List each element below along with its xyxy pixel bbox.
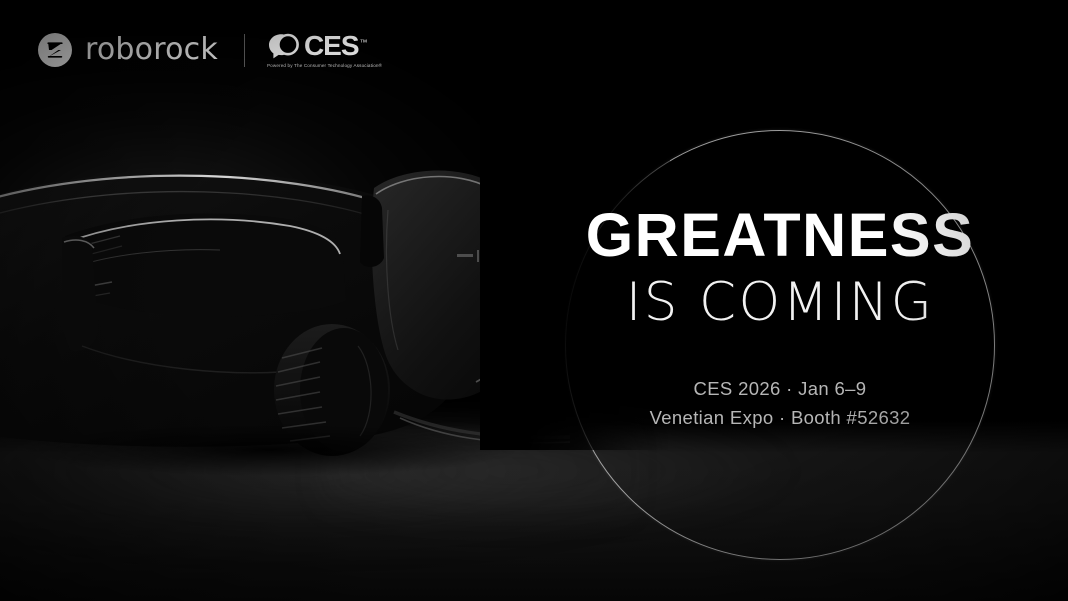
robot-vacuum-silhouette [0,150,570,480]
event-details: CES 2026 · Jan 6–9 Venetian Expo · Booth… [565,375,995,432]
ces-tagline: Powered by The Consumer Technology Assoc… [267,63,382,68]
teaser-canvas: roborock CES™ Powered by The Consumer Te… [0,0,1068,601]
event-date-line: CES 2026 · Jan 6–9 [565,375,995,404]
ces-trademark-symbol: ™ [360,38,368,47]
headline-block: GREATNESS IS COMING CES 2026 · Jan 6–9 V… [565,205,995,432]
headline-primary: GREATNESS [565,205,995,266]
lockup-divider [244,34,245,67]
roborock-wordmark: roborock [85,35,218,65]
ces-bubble-icon [267,32,299,60]
ces-wordmark: CES™ [304,32,368,60]
headline-secondary: IS COMING [565,276,995,329]
roborock-logo-icon [38,33,72,67]
ces-wordmark-text: CES [304,30,359,61]
event-venue-line: Venetian Expo · Booth #52632 [565,404,995,433]
ces-logo-lockup: CES™ Powered by The Consumer Technology … [267,32,382,68]
brand-lockup: roborock CES™ Powered by The Consumer Te… [38,32,382,68]
